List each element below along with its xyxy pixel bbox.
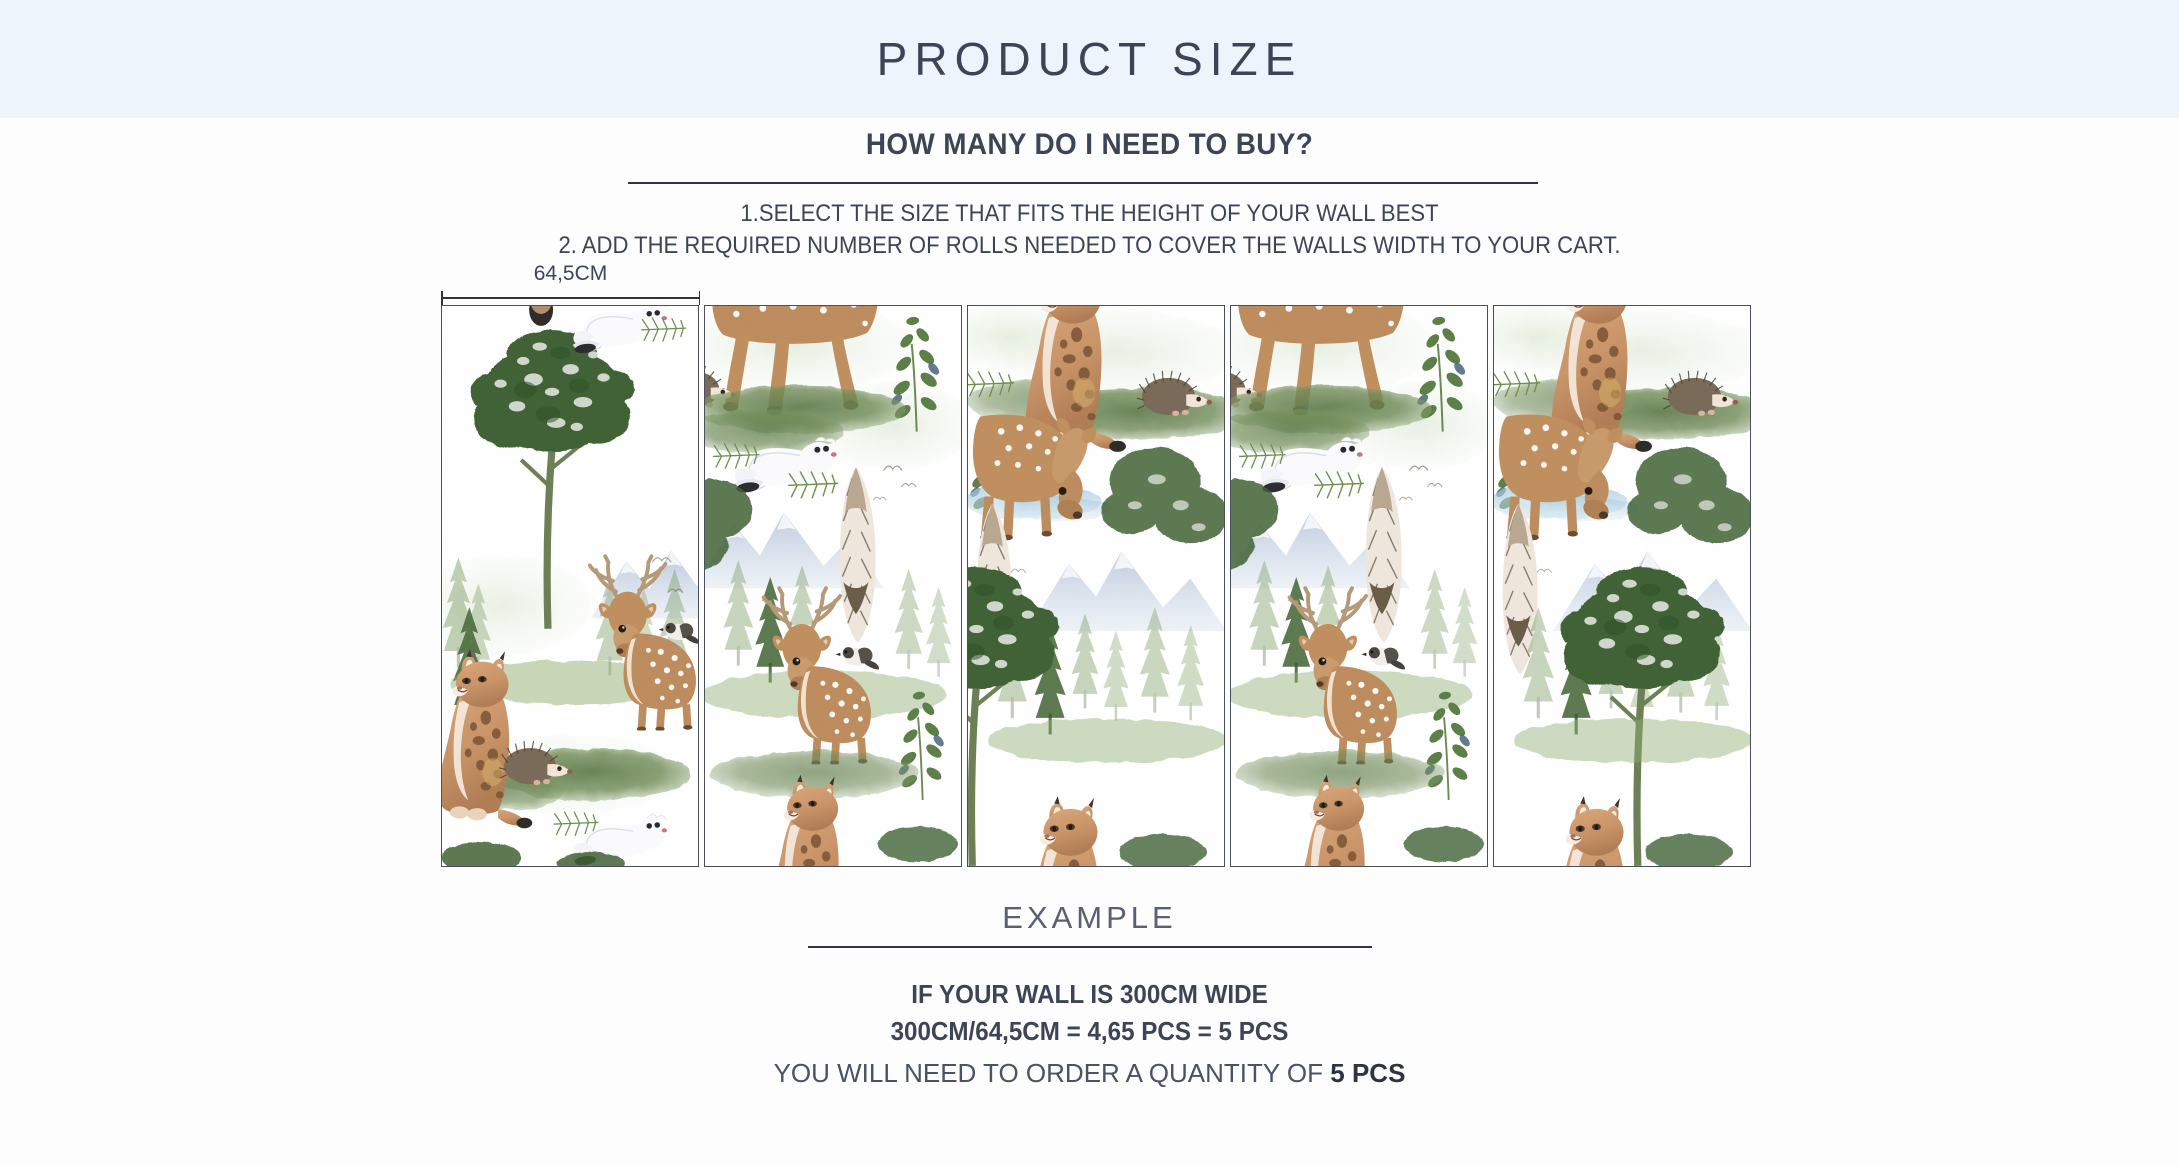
subhead-title: HOW MANY DO I NEED TO BUY? (76, 128, 2102, 162)
wallpaper-panel-1[interactable] (441, 305, 699, 867)
example-conclusion-quantity: 5 PCS (1330, 1058, 1405, 1088)
example-calculation: IF YOUR WALL IS 300CM WIDE 300CM/64,5CM … (0, 976, 2179, 1050)
wallpaper-panel-2[interactable] (704, 305, 962, 867)
example-line-2: 300CM/64,5CM = 4,65 PCS = 5 PCS (76, 1013, 2102, 1050)
page-title: PRODUCT SIZE (877, 32, 1303, 86)
wallpaper-panel-4[interactable] (1230, 305, 1488, 867)
instructions-list: 1.SELECT THE SIZE THAT FITS THE HEIGHT O… (0, 198, 2179, 262)
divider-top (628, 182, 1538, 184)
product-size-page: PRODUCT SIZE HOW MANY DO I NEED TO BUY? … (0, 0, 2179, 1165)
dimension-line (441, 291, 700, 305)
pattern-artwork-4 (1231, 306, 1487, 866)
dimension-label: 64,5CM (441, 262, 700, 286)
wallpaper-panel-5[interactable] (1493, 305, 1751, 867)
example-conclusion-prefix: YOU WILL NEED TO ORDER A QUANTITY OF (774, 1058, 1331, 1088)
pattern-artwork-5 (1494, 306, 1750, 866)
dimension-bar (441, 297, 700, 299)
pattern-artwork-2 (705, 306, 961, 866)
instruction-item-1: 1.SELECT THE SIZE THAT FITS THE HEIGHT O… (87, 198, 2092, 230)
example-conclusion: YOU WILL NEED TO ORDER A QUANTITY OF 5 P… (0, 1058, 2179, 1089)
wallpaper-panel-3[interactable] (967, 305, 1225, 867)
example-line-1: IF YOUR WALL IS 300CM WIDE (76, 976, 2102, 1013)
instruction-item-2: 2. ADD THE REQUIRED NUMBER OF ROLLS NEED… (87, 230, 2092, 262)
wallpaper-panel-strip (441, 305, 1751, 867)
dimension-cap-right (699, 291, 701, 305)
divider-example (808, 946, 1372, 948)
pattern-artwork-3 (968, 306, 1224, 866)
header-band: PRODUCT SIZE (0, 0, 2179, 118)
example-title: EXAMPLE (0, 900, 2179, 936)
subhead-block: HOW MANY DO I NEED TO BUY? (0, 128, 2179, 162)
pattern-artwork-1 (442, 306, 698, 866)
